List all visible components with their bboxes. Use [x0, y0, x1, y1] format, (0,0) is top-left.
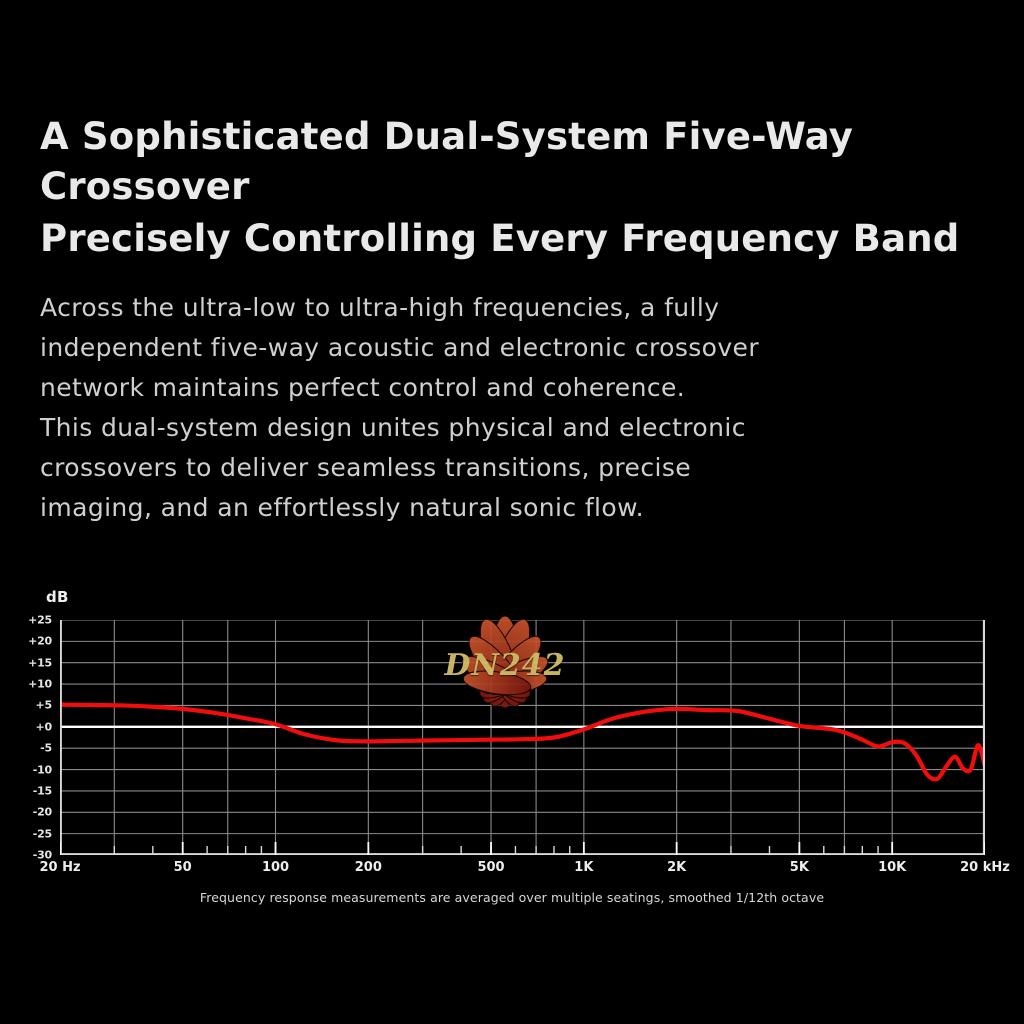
body-line-1: Across the ultra-low to ultra-high frequ…: [40, 288, 1000, 328]
y-tick-label: -5: [40, 742, 52, 755]
y-tick-label: +25: [28, 614, 52, 627]
body-line-2: independent five-way acoustic and electr…: [40, 328, 1000, 368]
x-tick-label: 50: [174, 860, 192, 875]
y-tick-label: +15: [28, 656, 52, 669]
x-tick-label: 20 Hz: [39, 860, 80, 875]
x-tick-label: 200: [355, 860, 382, 875]
y-axis-unit-label: dB: [46, 588, 69, 606]
headline-line-2: Crossover: [40, 162, 1000, 212]
x-tick-label: 20 kHz: [960, 860, 1010, 875]
headline-line-3: Precisely Controlling Every Frequency Ba…: [40, 214, 1000, 264]
body-line-6: imaging, and an effortlessly natural son…: [40, 488, 1000, 528]
x-tick-label: 1K: [574, 860, 593, 875]
chart-caption: Frequency response measurements are aver…: [0, 890, 1024, 905]
body-line-5: crossovers to deliver seamless transitio…: [40, 448, 1000, 488]
x-tick-label: 100: [262, 860, 289, 875]
y-tick-label: +0: [36, 720, 52, 733]
frequency-response-chart: dB +25+20+15+10+5+0-5-10-15-20-25-30 20 …: [0, 560, 1024, 920]
plot-area: [60, 620, 985, 855]
slide-root: A Sophisticated Dual-System Five-Way Cro…: [0, 0, 1024, 1024]
x-tick-label: 10K: [878, 860, 906, 875]
y-tick-label: -10: [33, 763, 52, 776]
x-tick-label: 500: [477, 860, 504, 875]
y-tick-label: +5: [36, 699, 52, 712]
headline-block: A Sophisticated Dual-System Five-Way Cro…: [40, 112, 1000, 264]
headline-line-1: A Sophisticated Dual-System Five-Way: [40, 112, 1000, 162]
response-curve: [60, 705, 985, 780]
body-line-4: This dual-system design unites physical …: [40, 408, 1000, 448]
plot-svg: [60, 620, 985, 855]
y-tick-label: -20: [33, 806, 52, 819]
x-tick-label: 2K: [667, 860, 686, 875]
y-tick-label: -15: [33, 784, 52, 797]
x-tick-label: 5K: [790, 860, 809, 875]
body-paragraph: Across the ultra-low to ultra-high frequ…: [40, 288, 1000, 528]
y-tick-label: +10: [28, 678, 52, 691]
body-line-3: network maintains perfect control and co…: [40, 368, 1000, 408]
y-tick-label: -25: [33, 827, 52, 840]
x-axis-tick-labels: 20 Hz501002005001K2K5K10K20 kHz: [0, 860, 1024, 884]
y-axis-tick-labels: +25+20+15+10+5+0-5-10-15-20-25-30: [0, 620, 56, 855]
y-tick-label: +20: [28, 635, 52, 648]
